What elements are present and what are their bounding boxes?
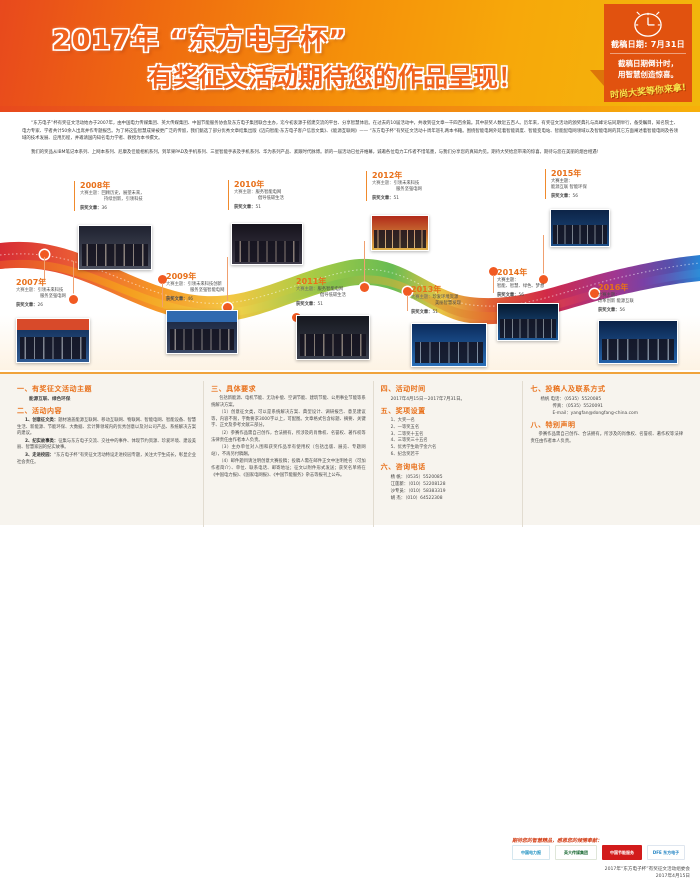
label-count: 获奖文章： [166,297,187,302]
requirement-4: （4）邮件题目请注明创意大赛投稿；投稿人需在邮件正文中注明姓名（可加作者简介）、… [211,459,366,479]
timeline-stem-2013 [407,295,408,311]
badge-fold-decoration [590,70,604,86]
section-heading-2: 二、活动内容 [17,406,196,416]
header-title-line2: 有奖征文活动期待您的作品呈现！ [148,58,523,94]
timeline-theme-2010-line2: 倡导低碳生活 [234,196,338,202]
timeline-photo-2011[interactable] [296,315,370,360]
label-theme: 大赛主题： [16,288,37,293]
section-heading-4: 四、活动时间 [381,384,516,394]
label-count: 获奖文章： [234,205,255,210]
theme-text: 引领未来科技 [393,181,419,186]
count-text: 36 [101,206,106,211]
sponsor-logos: 中国电力报 英大传媒集团 中国节能服务 DFE 东方电子 [512,845,685,860]
contact-row: 杨 帆：（0535）5520085 [391,474,516,481]
logo-yingda-media[interactable]: 英大传媒集团 [555,845,597,860]
timeline-theme-2012-line2: 服务坚强电网 [372,187,474,193]
prize-item: 5、优秀学生助学金六名 [391,445,516,452]
timeline-photo-2007[interactable] [16,318,90,363]
section-heading-8: 八、特别声明 [530,420,683,430]
panel-column-4: 七、投稿人及联系方式 杨帆 电话：（0535）5520085 传真：（0535）… [522,381,690,527]
section-heading-3: 三、具体要求 [211,384,366,394]
timeline-count-2014: 获奖文章：56 [497,292,601,298]
label-theme: 大赛主题： [296,287,317,292]
count-text: 26 [37,303,42,308]
timeline-stem-2009 [162,283,163,307]
logo-dfe[interactable]: DFE 东方电子 [647,845,685,860]
contact-tel: （0535）5520085 [405,475,442,480]
timeline-photo-2009[interactable] [166,310,238,354]
timeline-card-2011: 2011年 大赛主题：服务智能电网 倡导低碳生活 获奖文章：51 [296,277,406,307]
badge-line3: 时尚大奖等你来拿! [604,79,693,101]
organizer-block: 2017年“东方电子杯”有奖征文活动组委会 2017年4月15日 [605,866,690,880]
label-count: 获奖文章： [411,310,432,315]
timeline-count-2016: 获奖文章：56 [598,307,696,313]
contact-name: 胡 杰： [391,496,406,501]
prize-item: 2、一等奖五名 [391,425,516,432]
timeline-count-2009: 获奖文章：46 [166,296,286,302]
timeline-theme-2009-line2: 服务坚强智能电网 [166,288,286,294]
label-count: 获奖文章： [551,194,572,199]
timeline-count-2015: 获奖文章：56 [551,193,645,199]
count-text: 46 [187,297,192,302]
timeline-year-2016: 2016年 [598,283,696,293]
panel-column-1: 一、有奖征文活动主题 能源互联、绿色环保 二、活动内容 1、创意征文类：题材涵盖… [10,381,203,527]
label-theme: 大赛主题： [80,191,101,196]
label-count: 获奖文章： [598,308,619,313]
requirement-intro: 包括新能源、电机节能、无功补偿、空调节能、建筑节能、公用事业节能等系统解决方案。 [211,396,366,409]
timeline-photo-2015[interactable] [550,209,610,247]
requirement-3: （3）主办单位对入围和获奖作品享有使用权（包括出版、展览、专题网站），不再另付稿… [211,445,366,458]
badge-line2: 用智慧创造惊喜。 [604,69,692,80]
section-heading-5: 五、奖项设置 [381,406,516,416]
theme-text: 服务智能电网 [317,287,343,292]
logo-energy-news[interactable]: 中国节能服务 [602,845,642,860]
timeline-card-2010: 2010年 大赛主题：服务智能电网 倡导低碳生活 获奖文章：51 [228,180,338,210]
timeline-count-2011: 获奖文章：51 [296,301,406,307]
activity-period: 2017年4月15日－2017年7月31日。 [391,396,516,403]
label-theme: 大赛主题： [372,181,393,186]
requirement-2: （2）参赛作品需自己创作，合法拥有，所涉及的肖像权、名誉权、著作权等法律责任由作… [211,431,366,444]
count-text: 56 [619,308,624,313]
timeline-card-2015: 2015年 大赛主题： 能源互联 智能环保 获奖文章：56 [545,169,645,199]
panel-column-2: 三、具体要求 包括新能源、电机节能、无功补偿、空调节能、建筑节能、公用事业节能等… [203,381,373,527]
contact-name: 沙专员： [391,489,409,494]
content-item-3: 3、走进校园：“东方电子杯”有奖征文活动特设走进校园专题，关注大学生成长，彰显企… [17,453,196,466]
timeline-section: 2008年 大赛主题：回顾历史，展望未来， 持续创新，引领科技 获奖文章：36 … [0,165,700,370]
timeline-photo-2014[interactable] [497,303,559,341]
submitter-fax: 传真：（0535）5520091 [552,403,683,410]
section-1-subtitle: 能源互联、绿色环保 [29,396,196,403]
timeline-photo-2013[interactable] [411,323,487,367]
timeline-theme-2014-line1: 智能、智慧、绿色、梦想 [497,284,601,290]
contact-row: 江莲新：（010）52208128 [391,481,516,488]
count-text: 51 [255,205,260,210]
content-item-1: 1、创意征文类：题材涵盖能源互联网、移动互联网、物联网、智能电网、智能设备、智慧… [17,418,196,438]
label-count: 获奖文章： [372,196,393,201]
theme-text: 引领未来科技创新 [187,282,221,287]
intro-paragraph-2: 我们的奖品从IBM笔记本系列、上网本系列、尼康及佳能相机系列，到苹果PAD及手机… [22,149,678,157]
contact-row: 胡 杰：（010）64522308 [391,495,516,502]
badge-deadline-text: 截稿日期: 7月31日 [610,39,686,54]
footer-note: 期待您的智慧精品，感恩您的倾情奉献： [512,837,692,844]
timeline-photo-2012[interactable] [371,215,429,251]
clock-icon [629,10,667,38]
timeline-photo-2010[interactable] [231,223,303,265]
timeline-year-2007: 2007年 [16,278,126,288]
count-text: 51 [317,302,322,307]
timeline-theme-2008-line2: 持续创新，引领科技 [80,197,194,203]
content-item-2-title: 2、纪实故事类： [25,439,58,444]
timeline-theme-2015-line1: 能源互联 智能环保 [551,185,645,191]
timeline-year-2014: 2014年 [497,268,601,278]
count-text: 51 [432,310,437,315]
content-item-1-title: 1、创意征文类： [25,418,58,423]
timeline-count-2007: 获奖文章：26 [16,302,126,308]
timeline-count-2008: 获奖文章：36 [80,205,194,211]
timeline-count-2010: 获奖文章：51 [234,204,338,210]
panel-column-3: 四、活动时间 2017年4月15日－2017年7月31日。 五、奖项设置 1、大… [373,381,523,527]
organizer-line1: 2017年“东方电子杯”有奖征文活动组委会 [605,866,690,873]
timeline-photo-2008[interactable] [78,225,152,270]
theme-text: 引领未来科技 [37,288,63,293]
timeline-year-2015: 2015年 [551,169,645,179]
timeline-card-2008: 2008年 大赛主题：回顾历史，展望未来， 持续创新，引领科技 获奖文章：36 [74,181,194,211]
contact-tel: （010）52208128 [408,482,445,487]
logo-china-electric-power[interactable]: 中国电力报 [512,845,550,860]
label-count: 获奖文章： [296,302,317,307]
contact-name: 江莲新： [391,482,409,487]
timeline-count-2012: 获奖文章：51 [372,195,474,201]
timeline-theme-2011-line2: 倡导低碳生活 [296,293,406,299]
prize-item: 6、纪念奖若干 [391,452,516,459]
count-text: 51 [393,196,398,201]
timeline-card-2009: 2009年 大赛主题：引领未来科技创新 服务坚强智能电网 获奖文章：46 [166,272,286,302]
section-heading-6: 六、咨询电话 [381,462,516,472]
theme-text: 回顾历史，展望未来， [101,191,144,196]
timeline-year-2010: 2010年 [234,180,338,190]
content-item-2: 2、纪实故事类：征集与东方电子交流、交往中的事件、体现节约资源、珍爱环境、建设美… [17,439,196,452]
poster-header: 2017年 “东方电子杯” 有奖征文活动期待您的作品呈现！ 截稿日期: 7月31… [0,0,700,112]
organizer-line2: 2017年4月15日 [605,873,690,880]
section-heading-7: 七、投稿人及联系方式 [530,384,683,394]
theme-text: 珍爱环境资源 [432,295,458,300]
contact-tel: （010）64522308 [405,496,442,501]
deadline-badge: 截稿日期: 7月31日 截稿日期倒计时， 用智慧创造惊喜。 时尚大奖等你来拿! [604,4,692,102]
timeline-theme-2007-line2: 服务坚强电网 [16,294,126,300]
label-count: 获奖文章： [16,303,37,308]
timeline-year-2008: 2008年 [80,181,194,191]
content-item-3-title: 3、走进校园： [25,453,54,458]
label-count: 获奖文章： [80,206,101,211]
header-title-line1: 2017年 “东方电子杯” [52,18,347,57]
timeline-card-2016: 2016年 大赛主题： 改革创新 能源互联 获奖文章：56 [598,283,696,313]
contact-name: 杨 帆： [391,475,406,480]
poster-root: 2017年 “东方电子杯” 有奖征文活动期待您的作品呈现！ 截稿日期: 7月31… [0,0,700,525]
label-theme: 大赛主题： [234,190,255,195]
special-statement: 参赛作品需自己创作、合法拥有。所涉及的肖像权、名誉权、著作权等法律责任由作者本人… [530,432,683,445]
section-heading-1: 一、有奖征文活动主题 [17,384,196,394]
intro-section: “东方电子”杯有奖征文活动始办于2007年，由中国电力传媒集团、英大传媒集团、中… [0,112,700,162]
info-panel: 一、有奖征文活动主题 能源互联、绿色环保 二、活动内容 1、创意征文类：题材涵盖… [0,372,700,525]
requirement-1: （1）创意征文类，可以是系统解决方案、典型设计、调研报告、意见建议等，内容不限，… [211,410,366,430]
badge-line1: 截稿日期倒计时， [604,58,692,69]
submitter-tel: 杨帆 电话：（0535）5520085 [540,396,683,403]
timeline-year-2011: 2011年 [296,277,406,287]
timeline-theme-2016-line1: 改革创新 能源互联 [598,299,696,305]
count-text: 56 [518,293,523,298]
contact-row: 沙专员：（010）58383319 [391,488,516,495]
prize-item: 1、大奖一名 [391,418,516,425]
timeline-card-2012: 2012年 大赛主题：引领未来科技 服务坚强电网 获奖文章：51 [366,171,474,201]
timeline-year-2009: 2009年 [166,272,286,282]
label-theme: 大赛主题： [166,282,187,287]
intro-paragraph-1: “东方电子”杯有奖征文活动始办于2007年，由中国电力传媒集团、英大传媒集团、中… [22,120,678,143]
contact-tel: （010）58383319 [408,489,445,494]
submitter-email[interactable]: E-mail：yangfan@dongfang-china.com [552,410,683,417]
timeline-card-2007: 2007年 大赛主题：引领未来科技 服务坚强电网 获奖文章：26 [16,278,126,308]
timeline-photo-2016[interactable] [598,320,678,364]
label-count: 获奖文章： [497,293,518,298]
count-text: 56 [572,194,577,199]
label-theme: 大赛主题： [411,295,432,300]
theme-text: 服务智能电网 [255,190,281,195]
timeline-card-2014: 2014年 大赛主题： 智能、智慧、绿色、梦想 获奖文章：56 [497,268,601,298]
timeline-year-2012: 2012年 [372,171,474,181]
timeline-stem-2014 [493,275,494,293]
